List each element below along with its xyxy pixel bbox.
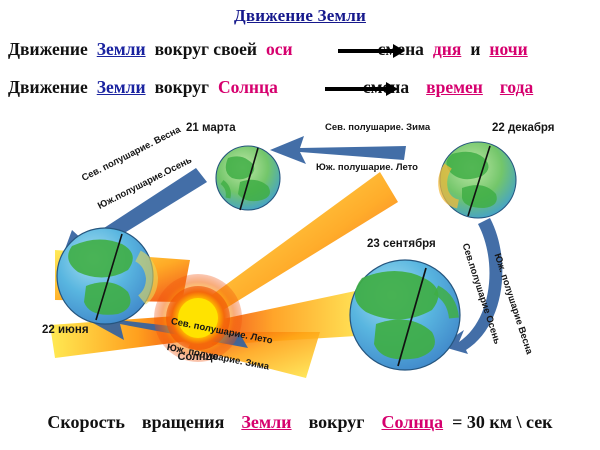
rule1-text-b: вокруг своей xyxy=(155,39,257,59)
rule2-text-a: Движение xyxy=(8,77,88,97)
date-label-22-june: 22 июня xyxy=(42,324,89,336)
footer-word-speed: Скорость xyxy=(47,412,125,432)
rule-line-rotation-axis: ДвижениеЗемливокруг своейосисменадняиноч… xyxy=(8,39,528,60)
earth-globe-summer-solstice xyxy=(57,228,153,324)
rule-line-revolution-sun: ДвижениеЗемливокругСолнцасменавременгода xyxy=(8,77,533,98)
rule1-night-word: ночи xyxy=(489,39,527,59)
date-label-23-september: 23 сентября xyxy=(367,238,436,250)
orbital-speed-statement: СкоростьвращенияЗемливокругСолнца= 30 км… xyxy=(0,412,600,433)
rule2-earth-word: Земли xyxy=(97,77,146,97)
rule1-axis-word: оси xyxy=(266,39,293,59)
rule1-conjunction: и xyxy=(470,39,480,59)
rule1-earth-word: Земли xyxy=(97,39,146,59)
orbit-diagram: Солнце xyxy=(0,110,600,405)
footer-word-around: вокруг xyxy=(309,412,365,432)
date-label-21-march: 21 марта xyxy=(186,122,236,134)
footer-earth-word: Земли xyxy=(241,412,291,432)
date-label-22-december: 22 декабря xyxy=(492,122,555,134)
footer-sun-word: Солнца xyxy=(381,412,443,432)
footer-speed-value: = 30 км \ сек xyxy=(452,412,552,432)
rule1-text-a: Движение xyxy=(8,39,88,59)
page-title: Движение Земли xyxy=(0,6,600,26)
earth-globe-spring-equinox xyxy=(216,146,280,210)
rule2-sun-word: Солнца xyxy=(218,77,278,97)
rule2-seasons-word-1: времен xyxy=(426,77,483,97)
earth-globe-winter-solstice xyxy=(440,142,516,218)
earth-movement-diagram: Движение Земли ДвижениеЗемливокруг своей… xyxy=(0,0,600,450)
rule1-day-word: дня xyxy=(433,39,461,59)
hemisphere-label-north-winter: Сев. полушарие. Зима xyxy=(325,122,430,133)
earth-globe-autumn-equinox xyxy=(350,260,460,370)
rule2-seasons-word-2: года xyxy=(500,77,533,97)
footer-word-rotation: вращения xyxy=(142,412,224,432)
arrow-rightwards-icon-2 xyxy=(325,87,387,91)
hemisphere-label-south-summer: Юж. полушарие. Лето xyxy=(316,162,418,173)
arrow-rightwards-icon-1 xyxy=(338,49,394,53)
rule2-text-b: вокруг xyxy=(155,77,209,97)
